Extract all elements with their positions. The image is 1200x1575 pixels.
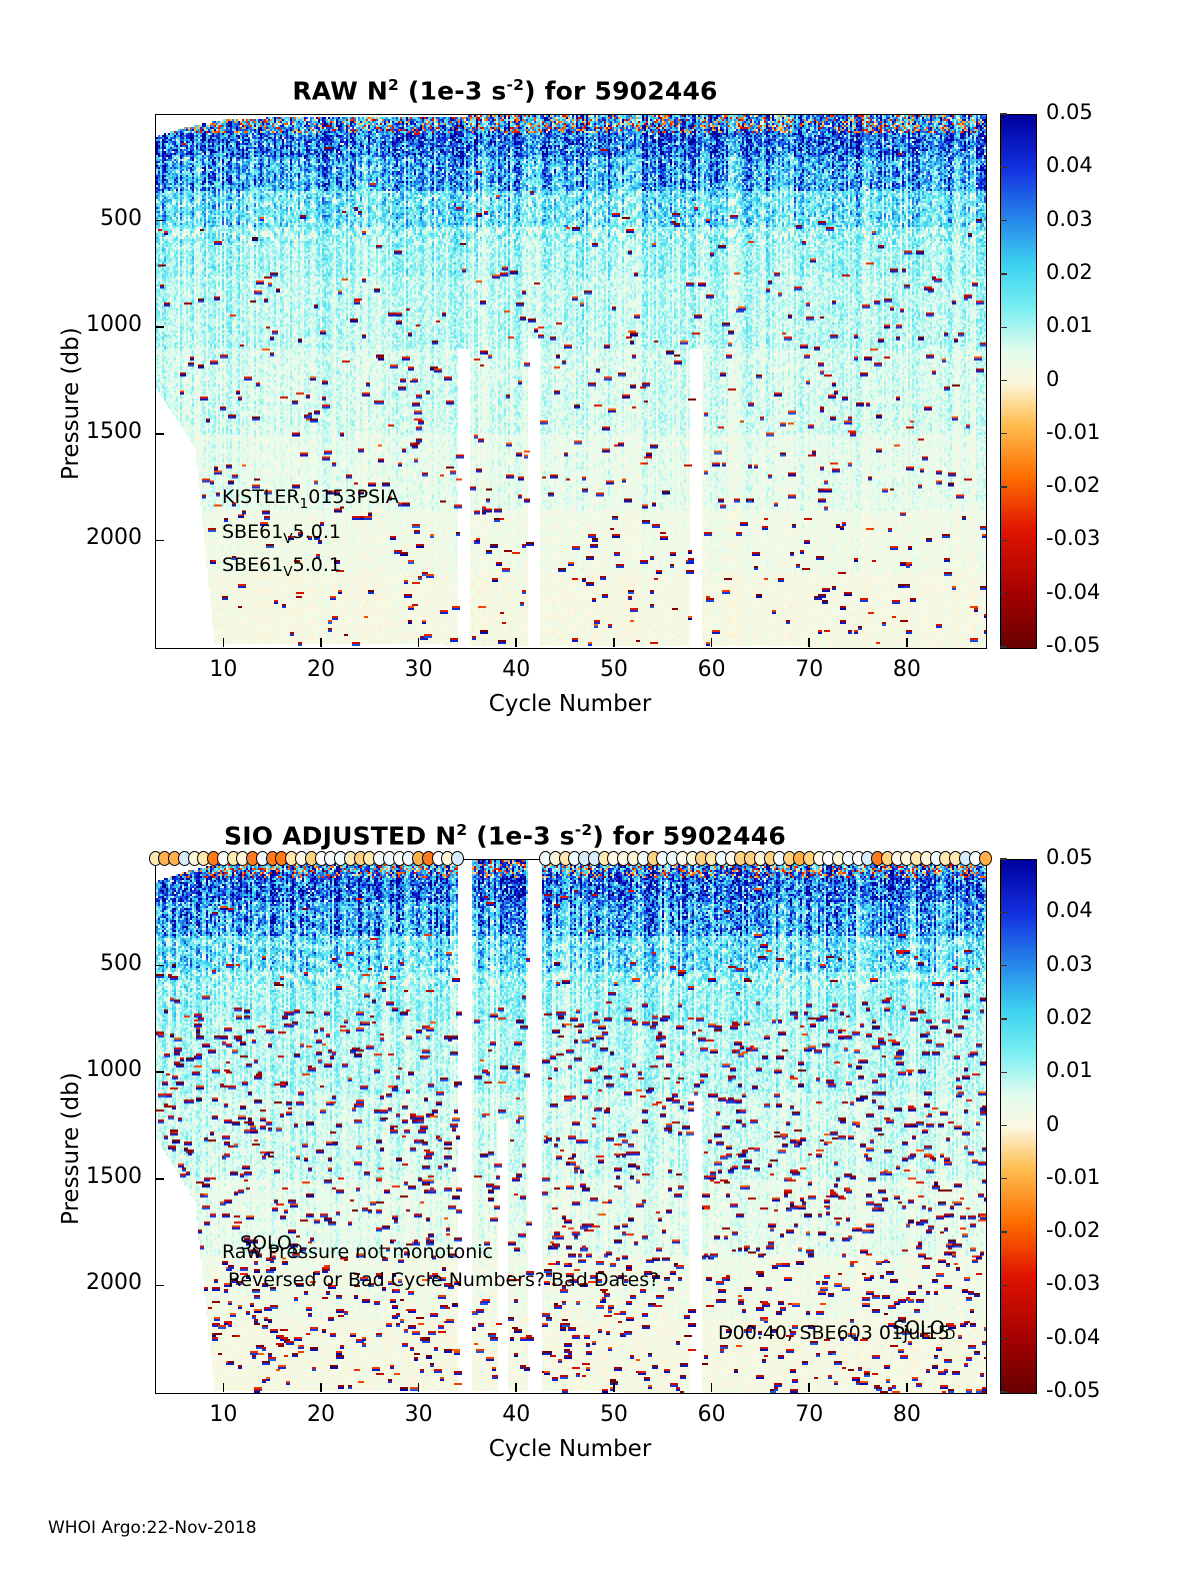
x-tick-80 xyxy=(906,638,908,647)
annotation-text: SOLO xyxy=(893,1317,945,1339)
y-tick-label-1500: 1500 xyxy=(37,1164,142,1189)
x-tick-label-30: 30 xyxy=(379,1402,459,1427)
y-tick-2000 xyxy=(155,1285,164,1287)
annotation-text: Reversed or Bad Cycle Numbers? Bad Dates… xyxy=(228,1269,659,1291)
x-tick-60 xyxy=(711,638,713,647)
colorbar-tick-label-9: -0.04 xyxy=(1046,580,1100,604)
cycle-marker-88 xyxy=(979,851,992,866)
colorbar-tick-5 xyxy=(1000,380,1007,381)
y-tick-label-500: 500 xyxy=(37,951,142,976)
x-tick-label-20: 20 xyxy=(281,657,361,682)
y-tick-label-1500: 1500 xyxy=(37,419,142,444)
annotation-raw-2: SBE61V5.0.1 xyxy=(222,554,341,580)
x-tick-label-40: 40 xyxy=(476,1402,556,1427)
x-tick-label-20: 20 xyxy=(281,1402,361,1427)
colorbar-tick-label-5: 0 xyxy=(1046,1112,1059,1136)
y-tick-2000 xyxy=(155,540,164,542)
y-tick-label-1000: 1000 xyxy=(37,1057,142,1082)
colorbar-tick-label-4: 0.01 xyxy=(1046,1058,1093,1082)
x-tick-10 xyxy=(223,1383,225,1392)
colorbar-tick-label-10: -0.05 xyxy=(1046,1378,1100,1402)
colorbar-tick-4 xyxy=(1000,327,1007,328)
colorbar-tick-label-5: 0 xyxy=(1046,367,1059,391)
x-tick-label-60: 60 xyxy=(672,1402,752,1427)
colorbar-tick-label-1: 0.04 xyxy=(1046,898,1093,922)
colorbar-tick-6 xyxy=(1000,1178,1007,1179)
colorbar-tick-0 xyxy=(1000,858,1007,859)
colorbar-tick-label-10: -0.05 xyxy=(1046,633,1100,657)
annotation-subscript: V xyxy=(283,564,292,580)
colorbar-tick-label-7: -0.02 xyxy=(1046,1218,1100,1242)
colorbar-tick-label-6: -0.01 xyxy=(1046,1165,1100,1189)
colorbar-tick-7 xyxy=(1000,1231,1007,1232)
raw-title-main: RAW N xyxy=(292,76,388,105)
colorbar-tick-8 xyxy=(1000,1285,1007,1286)
colorbar-tick-label-0: 0.05 xyxy=(1046,845,1093,869)
x-tick-80 xyxy=(906,1383,908,1392)
colorbar-tick-label-0: 0.05 xyxy=(1046,100,1093,124)
colorbar-tick-8 xyxy=(1000,540,1007,541)
colorbar-tick-3 xyxy=(1000,1018,1007,1019)
annotation-text-tail: 5.0.1 xyxy=(293,554,341,576)
annotation-raw-1: SBE61V5.0.1 xyxy=(222,521,341,547)
colorbar-tick-3 xyxy=(1000,273,1007,274)
colorbar-tick-label-1: 0.04 xyxy=(1046,153,1093,177)
annotation-text-tail: 0153PSIA xyxy=(308,486,398,508)
x-tick-label-50: 50 xyxy=(574,657,654,682)
annotation-raw-0: KISTLER10153PSIA xyxy=(222,486,399,512)
colorbar-tick-1 xyxy=(1000,167,1007,168)
annotation-text: Raw Pressure not monotonic xyxy=(222,1241,493,1263)
colorbar-tick-10 xyxy=(1000,1391,1007,1392)
colorbar-tick-label-3: 0.02 xyxy=(1046,260,1093,284)
x-tick-40 xyxy=(515,638,517,647)
figure-footer: WHOI Argo:22-Nov-2018 xyxy=(48,1518,257,1538)
x-tick-label-60: 60 xyxy=(672,657,752,682)
annotation-text-tail: 5.0.1 xyxy=(293,521,341,543)
annotation-adjusted-4: SOLOD xyxy=(893,1317,955,1343)
x-tick-70 xyxy=(808,1383,810,1392)
adjusted-y-axis-label: Pressure (db) xyxy=(58,1072,84,1225)
annotation-adjusted-1: Raw Pressure not monotonic xyxy=(222,1241,493,1263)
annotation-adjusted-2: Reversed or Bad Cycle Numbers? Bad Dates… xyxy=(228,1269,659,1291)
x-tick-40 xyxy=(515,1383,517,1392)
x-tick-label-80: 80 xyxy=(867,1402,947,1427)
y-tick-label-2000: 2000 xyxy=(37,525,142,550)
x-tick-label-70: 70 xyxy=(769,1402,849,1427)
annotation-text: SBE61 xyxy=(222,554,283,576)
raw-y-axis-label: Pressure (db) xyxy=(58,327,84,480)
annotation-subscript: V xyxy=(283,531,292,547)
x-tick-label-40: 40 xyxy=(476,657,556,682)
adjusted-axes xyxy=(155,859,987,1394)
raw-title-mid: (1e-3 s xyxy=(399,76,506,105)
adjusted-heatmap xyxy=(156,860,986,1393)
y-tick-1500 xyxy=(155,433,164,435)
x-tick-label-50: 50 xyxy=(574,1402,654,1427)
x-tick-50 xyxy=(613,638,615,647)
colorbar-tick-6 xyxy=(1000,433,1007,434)
x-tick-60 xyxy=(711,1383,713,1392)
adj-title-main: SIO ADJUSTED N xyxy=(224,821,456,850)
annotation-subscript: 1 xyxy=(300,496,309,512)
raw-plot-title: RAW N2 (1e-3 s-2) for 5902446 xyxy=(0,76,1010,105)
y-tick-label-2000: 2000 xyxy=(37,1270,142,1295)
colorbar-tick-label-3: 0.02 xyxy=(1046,1005,1093,1029)
x-tick-30 xyxy=(418,638,420,647)
adj-title-sup-n2: 2 xyxy=(456,821,467,839)
y-tick-label-500: 500 xyxy=(37,206,142,231)
y-tick-1000 xyxy=(155,1071,164,1073)
panel-raw: RAW N2 (1e-3 s-2) for 5902446 5001000150… xyxy=(0,0,1200,760)
adjusted-colorbar xyxy=(1000,859,1037,1394)
x-tick-label-10: 10 xyxy=(183,1402,263,1427)
adj-title-sup-s2: -2 xyxy=(575,821,593,839)
raw-title-sup-s2: -2 xyxy=(506,76,524,94)
colorbar-tick-label-8: -0.03 xyxy=(1046,1271,1100,1295)
adjusted-x-axis-label: Cycle Number xyxy=(155,1436,985,1462)
y-tick-label-1000: 1000 xyxy=(37,312,142,337)
x-tick-70 xyxy=(808,638,810,647)
colorbar-tick-label-6: -0.01 xyxy=(1046,420,1100,444)
colorbar-tick-9 xyxy=(1000,1338,1007,1339)
colorbar-tick-0 xyxy=(1000,113,1007,114)
raw-title-sup-n2: 2 xyxy=(388,76,399,94)
adj-title-end: ) for 5902446 xyxy=(592,821,786,850)
colorbar-tick-9 xyxy=(1000,593,1007,594)
raw-colorbar xyxy=(1000,114,1037,649)
x-tick-label-30: 30 xyxy=(379,657,459,682)
y-tick-500 xyxy=(155,220,164,222)
x-tick-20 xyxy=(320,638,322,647)
annotation-text: KISTLER xyxy=(222,486,300,508)
raw-x-axis-label: Cycle Number xyxy=(155,691,985,717)
y-tick-500 xyxy=(155,965,164,967)
annotation-subscript: D xyxy=(945,1327,956,1343)
colorbar-tick-label-9: -0.04 xyxy=(1046,1325,1100,1349)
adj-title-mid: (1e-3 s xyxy=(467,821,574,850)
colorbar-tick-label-8: -0.03 xyxy=(1046,526,1100,550)
colorbar-tick-2 xyxy=(1000,965,1007,966)
x-tick-10 xyxy=(223,638,225,647)
x-tick-label-80: 80 xyxy=(867,657,947,682)
panel-adjusted: SIO ADJUSTED N2 (1e-3 s-2) for 5902446 5… xyxy=(0,745,1200,1505)
colorbar-tick-label-2: 0.03 xyxy=(1046,952,1093,976)
x-tick-50 xyxy=(613,1383,615,1392)
x-tick-label-70: 70 xyxy=(769,657,849,682)
x-tick-20 xyxy=(320,1383,322,1392)
x-tick-label-10: 10 xyxy=(183,657,263,682)
raw-title-end: ) for 5902446 xyxy=(524,76,718,105)
x-tick-30 xyxy=(418,1383,420,1392)
adjusted-plot-title: SIO ADJUSTED N2 (1e-3 s-2) for 5902446 xyxy=(0,821,1010,850)
colorbar-tick-2 xyxy=(1000,220,1007,221)
y-tick-1000 xyxy=(155,326,164,328)
colorbar-tick-label-4: 0.01 xyxy=(1046,313,1093,337)
colorbar-tick-label-7: -0.02 xyxy=(1046,473,1100,497)
colorbar-tick-4 xyxy=(1000,1072,1007,1073)
colorbar-tick-5 xyxy=(1000,1125,1007,1126)
colorbar-tick-10 xyxy=(1000,646,1007,647)
colorbar-tick-7 xyxy=(1000,486,1007,487)
y-tick-1500 xyxy=(155,1178,164,1180)
colorbar-tick-1 xyxy=(1000,912,1007,913)
colorbar-tick-label-2: 0.03 xyxy=(1046,207,1093,231)
annotation-text: SBE61 xyxy=(222,521,283,543)
